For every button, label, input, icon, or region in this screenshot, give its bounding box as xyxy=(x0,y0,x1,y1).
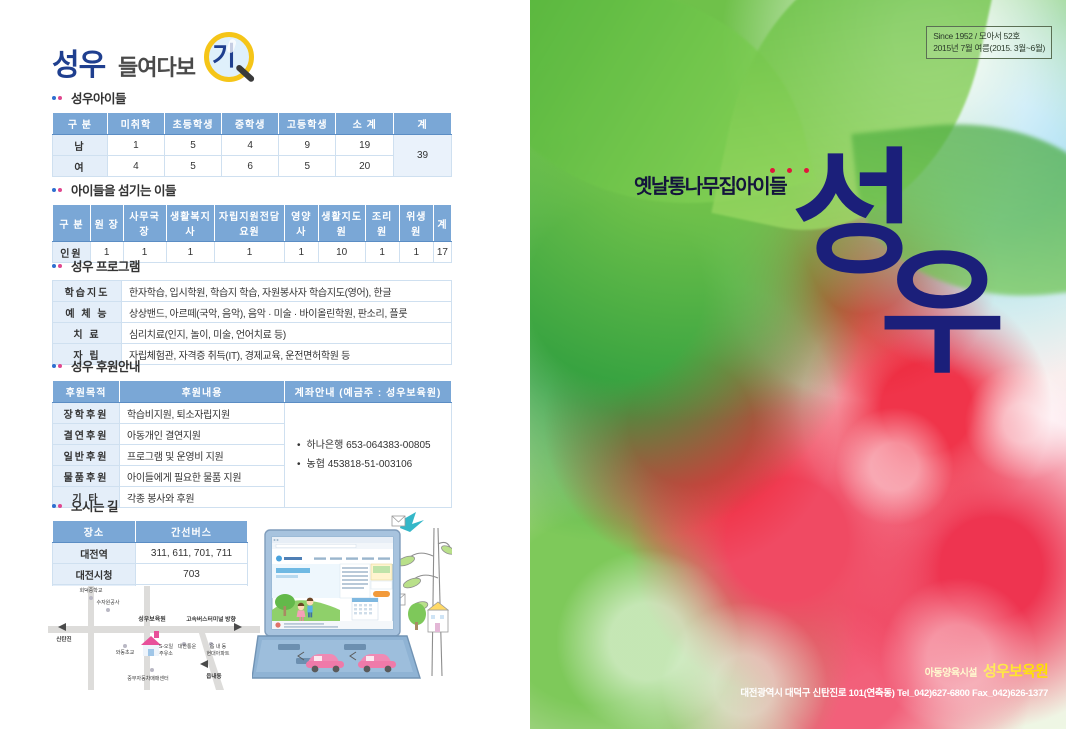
account-item: 하나은행 653-064383-00805 xyxy=(297,436,448,455)
svg-text:신탄진: 신탄진 xyxy=(56,635,71,643)
th-nutritionist: 영양사 xyxy=(284,205,318,242)
th-independence-officer: 자립지원전담요원 xyxy=(215,205,284,242)
bullet-dots-icon xyxy=(52,259,66,273)
program-text: 한자학습, 입시학원, 학습지 학습, 자원봉사자 학습지도(영어), 한글 xyxy=(122,281,452,302)
cover-page: Since 1952 / 모아서 52호 2015년 7월 여름(2015. 3… xyxy=(530,0,1066,729)
th-support-purpose: 후원목적 xyxy=(53,381,120,403)
cover-subtitle: 옛날통나무집아이들 xyxy=(634,170,786,199)
svg-text:읍내동: 읍내동 xyxy=(206,672,221,680)
program-text: 심리치료(인지, 놀이, 미술, 언어치료 등) xyxy=(122,323,452,344)
section-directions-title: 오시는 길 xyxy=(71,496,118,515)
cell-grand-total: 39 xyxy=(394,135,452,177)
th-life-guide: 생활지도원 xyxy=(318,205,365,242)
section-children-title-row: 성우아이들 xyxy=(52,88,452,107)
programs-table: 학습지도 한자학습, 입시학원, 학습지 학습, 자원봉사자 학습지도(영어),… xyxy=(52,280,452,365)
account-list: 하나은행 653-064383-00805 농협 453818-51-00310… xyxy=(285,403,452,508)
support-label: 결연후원 xyxy=(53,424,120,445)
table-row: 남 1 5 4 9 19 39 xyxy=(53,135,452,156)
section-staff-title: 아이들을 섬기는 이들 xyxy=(71,180,176,199)
th-bus: 간선버스 xyxy=(136,521,248,543)
svg-text:와동초교: 와동초교 xyxy=(116,649,135,656)
support-text: 프로그램 및 운영비 지원 xyxy=(120,445,285,466)
cell: 20 xyxy=(336,156,394,177)
th-total: 계 xyxy=(433,205,451,242)
bullet-dots-icon xyxy=(52,499,66,513)
section-children: 성우아이들 구 분 미취학 초등학생 중학생 고등학생 소 계 계 xyxy=(52,88,452,177)
th-director: 원 장 xyxy=(90,205,123,242)
issue-line-2: 2015년 7월 여름(2015. 3월~6월) xyxy=(933,42,1045,54)
bus-numbers: 311, 611, 701, 711 xyxy=(136,543,248,564)
section-programs-title: 성우 프로그램 xyxy=(71,256,140,275)
place-name: 대전역 xyxy=(53,543,136,564)
issue-line-1: Since 1952 / 모아서 52호 xyxy=(933,30,1045,42)
svg-text:현대아파트: 현대아파트 xyxy=(206,650,229,657)
bullet-dots-icon xyxy=(52,359,66,373)
section-support-title: 성우 후원안내 xyxy=(71,356,140,375)
cover-org-line: 아동양육시설성우보육원 xyxy=(925,660,1048,681)
svg-text:성우보육원: 성우보육원 xyxy=(138,615,166,623)
cell: 6 xyxy=(222,156,279,177)
svg-text:대한통운: 대한통운 xyxy=(178,643,197,650)
brochure-page: 성우 들여다보 기 성우아이들 구 분 미취학 초등학생 xyxy=(0,0,1066,729)
cover-title-char-2: 우 xyxy=(880,251,999,376)
support-label: 물품후원 xyxy=(53,466,120,487)
table-row: 대전시청 703 xyxy=(53,564,248,585)
table-row: 장학후원 학습비지원, 퇴소자립지원 하나은행 653-064383-00805… xyxy=(53,403,452,424)
table-header-row: 후원목적 후원내용 계좌안내 (예금주 : 성우보육원) xyxy=(53,381,452,403)
svg-text:고속버스터미널 방향: 고속버스터미널 방향 xyxy=(186,615,236,623)
section-staff-title-row: 아이들을 섬기는 이들 xyxy=(52,180,452,199)
inside-page: 성우 들여다보 기 성우아이들 구 분 미취학 초등학생 xyxy=(0,0,530,729)
svg-text:읍 내 동: 읍 내 동 xyxy=(210,643,227,650)
support-text: 아동개인 결연지원 xyxy=(120,424,285,445)
cell: 5 xyxy=(279,156,336,177)
row-label-male: 남 xyxy=(53,135,108,156)
section-children-title: 성우아이들 xyxy=(71,88,126,107)
svg-text:중부자동차매매센터: 중부자동차매매센터 xyxy=(127,675,168,682)
th-hygiene: 위생원 xyxy=(399,205,433,242)
bullet-dots-icon xyxy=(52,91,66,105)
cell: 5 xyxy=(164,156,221,177)
row-label-female: 여 xyxy=(53,156,108,177)
section-staff: 아이들을 섬기는 이들 구 분 원 장 사무국장 생활복지사 자립지원전담요원 … xyxy=(52,180,452,263)
bullet-dots-icon xyxy=(52,183,66,197)
cell: 1 xyxy=(107,135,164,156)
table-header-row: 구 분 원 장 사무국장 생활복지사 자립지원전담요원 영양사 생활지도원 조리… xyxy=(53,205,452,242)
svg-text:회덕중학교: 회덕중학교 xyxy=(79,587,102,594)
table-row: 예 체 능 상상밴드, 아르떼(국악, 음악), 음악 · 미술 · 바이올린학… xyxy=(53,302,452,323)
location-map: 회덕중학교 수자원공사 신탄진 와동초교 성우보육원 고속버스터미널 방향 S-… xyxy=(48,586,260,690)
issue-info-box: Since 1952 / 모아서 52호 2015년 7월 여름(2015. 3… xyxy=(926,26,1052,59)
th-total: 계 xyxy=(394,113,452,135)
table-row: 대전역 311, 611, 701, 711 xyxy=(53,543,248,564)
th-category: 구 분 xyxy=(53,205,91,242)
svg-text:수자원공사: 수자원공사 xyxy=(96,599,119,606)
cover-org-name: 성우보육원 xyxy=(983,663,1048,680)
table-row: 학습지도 한자학습, 입시학원, 학습지 학습, 자원봉사자 학습지도(영어),… xyxy=(53,281,452,302)
cell: 19 xyxy=(336,135,394,156)
cover-org-kind: 아동양육시설 xyxy=(925,668,977,679)
cell: 4 xyxy=(107,156,164,177)
children-table: 구 분 미취학 초등학생 중학생 고등학생 소 계 계 남 1 5 4 xyxy=(52,112,452,177)
masthead-word: 들여다보 xyxy=(118,50,195,82)
section-programs: 성우 프로그램 학습지도 한자학습, 입시학원, 학습지 학습, 자원봉사자 학… xyxy=(52,256,452,365)
th-preschool: 미취학 xyxy=(107,113,164,135)
cell: 9 xyxy=(279,135,336,156)
th-elementary: 초등학생 xyxy=(164,113,221,135)
th-place: 장소 xyxy=(53,521,136,543)
section-programs-title-row: 성우 프로그램 xyxy=(52,256,452,275)
support-label: 장학후원 xyxy=(53,403,120,424)
th-cook: 조리원 xyxy=(365,205,399,242)
program-label: 치 료 xyxy=(53,323,122,344)
program-label: 예 체 능 xyxy=(53,302,122,323)
svg-text:S-오일: S-오일 xyxy=(159,643,174,650)
th-subtotal: 소 계 xyxy=(336,113,394,135)
svg-text:주유소: 주유소 xyxy=(159,651,173,657)
table-row: 여 4 5 6 5 20 xyxy=(53,156,452,177)
program-label: 학습지도 xyxy=(53,281,122,302)
section-support-title-row: 성우 후원안내 xyxy=(52,356,452,375)
cover-address: 대전광역시 대덕구 신탄진로 101(연축동) Tel_042)627-6800… xyxy=(740,685,1048,699)
program-text: 상상밴드, 아르떼(국악, 음악), 음악 · 미술 · 바이올린학원, 판소리… xyxy=(122,302,452,323)
th-secretary-general: 사무국장 xyxy=(123,205,166,242)
th-high: 고등학생 xyxy=(279,113,336,135)
magnifier-icon: 기 xyxy=(204,32,260,88)
cell: 5 xyxy=(164,135,221,156)
support-text: 아이들에게 필요한 물품 지원 xyxy=(120,466,285,487)
th-support-content: 후원내용 xyxy=(120,381,285,403)
th-account-info: 계좌안내 (예금주 : 성우보육원) xyxy=(285,381,452,403)
section-support: 성우 후원안내 후원목적 후원내용 계좌안내 (예금주 : 성우보육원) 장학후… xyxy=(52,356,452,508)
account-item: 농협 453818-51-003106 xyxy=(297,455,448,474)
place-name: 대전시청 xyxy=(53,564,136,585)
table-header-row: 장소 간선버스 xyxy=(53,521,248,543)
th-middle: 중학생 xyxy=(222,113,279,135)
support-label: 일반후원 xyxy=(53,445,120,466)
cover-title: 성 우 xyxy=(792,152,999,376)
masthead: 성우 들여다보 기 xyxy=(52,34,312,90)
bus-numbers: 703 xyxy=(136,564,248,585)
table-header-row: 구 분 미취학 초등학생 중학생 고등학생 소 계 계 xyxy=(53,113,452,135)
support-text: 학습비지원, 퇴소자립지원 xyxy=(120,403,285,424)
laptop-illustration xyxy=(252,506,452,686)
th-social-worker: 생활복지사 xyxy=(166,205,215,242)
support-table: 후원목적 후원내용 계좌안내 (예금주 : 성우보육원) 장학후원 학습비지원,… xyxy=(52,380,452,508)
section-directions-title-row: 오시는 길 xyxy=(52,496,248,515)
masthead-brand: 성우 xyxy=(52,40,105,84)
staff-table: 구 분 원 장 사무국장 생활복지사 자립지원전담요원 영양사 생활지도원 조리… xyxy=(52,204,452,263)
cell: 4 xyxy=(222,135,279,156)
table-row: 치 료 심리치료(인지, 놀이, 미술, 언어치료 등) xyxy=(53,323,452,344)
th-category: 구 분 xyxy=(53,113,108,135)
